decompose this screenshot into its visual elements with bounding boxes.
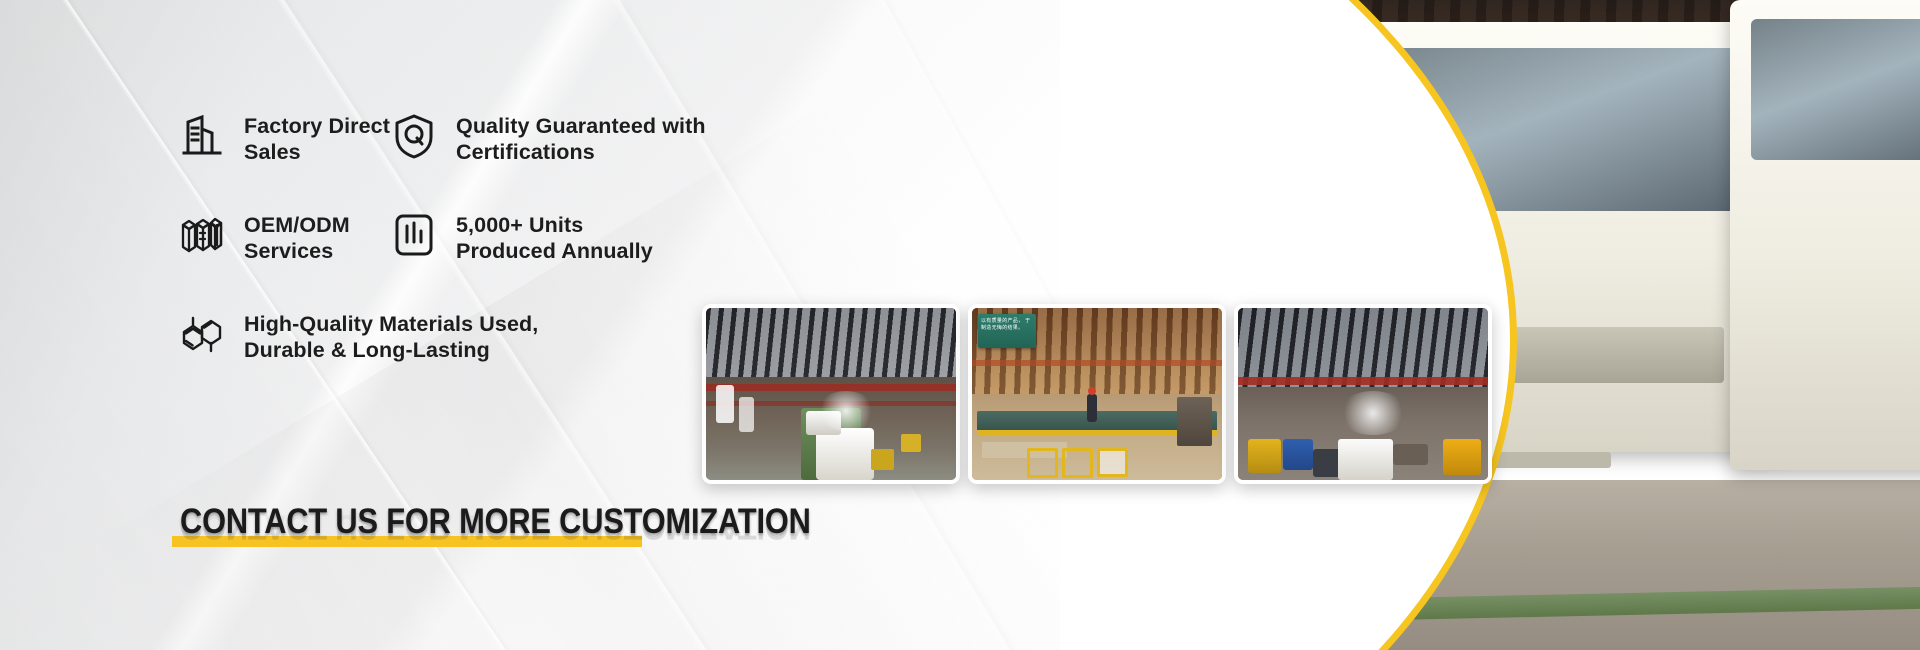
factory-assembly-hall-thumbnail[interactable]: Long assembly hall with truck chassis li… — [702, 304, 960, 484]
feature-item-factory-direct-sales: Factory Direct Sales — [178, 112, 390, 165]
company-strengths-banner: Factory Direct Sales Quality Guaranteed … — [0, 0, 1920, 650]
feature-item-quality-guaranteed: Quality Guaranteed with Certifications — [390, 112, 706, 165]
feature-label: 5,000+ Units Produced Annually — [456, 211, 653, 264]
worker-figure — [1087, 394, 1097, 422]
feature-item-oem-odm-services: OEM/ODM Services — [178, 211, 390, 264]
workshop-sign: 以有质量的产品， 于制造无悔的结果。 — [978, 314, 1036, 348]
feature-item-units-produced: 5,000+ Units Produced Annually — [390, 211, 653, 264]
feature-row: OEM/ODM Services 5,000+ Units Produced A… — [178, 211, 798, 264]
workshop-sign-text: 以有质量的产品， 于制造无悔的结果。 — [978, 314, 1036, 336]
oem-letters-icon — [178, 211, 226, 259]
molecule-icon — [178, 310, 226, 358]
contact-headline: CONTACT US FOR MORE CUSTOMIZATION — [180, 500, 811, 544]
truck-cab — [1730, 0, 1920, 470]
production-chart-icon — [390, 211, 438, 259]
thumbnail-strip: Long assembly hall with truck chassis li… — [702, 304, 1492, 484]
feature-label: OEM/ODM Services — [244, 211, 350, 264]
shield-quality-icon — [390, 112, 438, 160]
parts-warehouse-thumbnail[interactable]: Wide workshop bay with parts, forklifts … — [1234, 304, 1492, 484]
feature-row: Factory Direct Sales Quality Guaranteed … — [178, 112, 798, 165]
feature-label: High-Quality Materials Used, Durable & L… — [244, 310, 538, 363]
feature-label: Quality Guaranteed with Certifications — [456, 112, 706, 165]
contact-headline-block: CONTACT US FOR MORE CUSTOMIZATION CONTAC… — [172, 500, 732, 570]
steel-workshop-thumbnail[interactable]: 以有质量的产品， 于制造无悔的结果。 Worker in a red helme… — [968, 304, 1226, 484]
feature-item-high-quality-materials: High-Quality Materials Used, Durable & L… — [178, 310, 538, 363]
factory-building-icon — [178, 112, 226, 160]
feature-label: Factory Direct Sales — [244, 112, 390, 165]
